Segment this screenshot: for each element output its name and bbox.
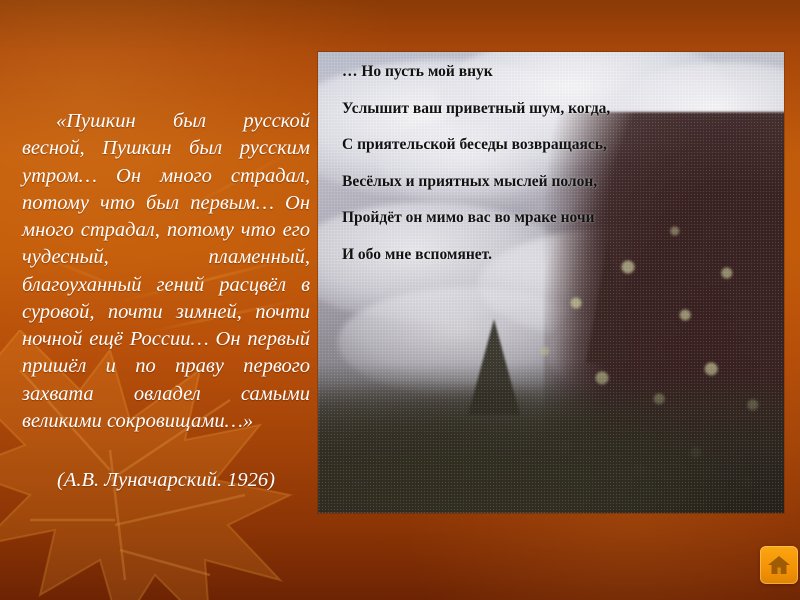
quote-column: «Пушкин был русской весной, Пушкин был р…: [22, 108, 310, 492]
conifer-silhouette: [468, 319, 520, 415]
home-icon: [767, 554, 791, 576]
poem-line: С приятельской беседы возвращаясь,: [342, 137, 774, 153]
poem-line: … Но пусть мой внук: [342, 64, 774, 80]
poem-block: … Но пусть мой внук Услышит ваш приветны…: [342, 64, 774, 283]
home-button[interactable]: [760, 546, 798, 584]
tree-line: [318, 363, 784, 513]
quote-text: «Пушкин был русской весной, Пушкин был р…: [22, 108, 310, 435]
quote-attribution: (А.В. Луначарский. 1926): [22, 469, 310, 492]
poem-line: Весёлых и приятных мыслей полон,: [342, 174, 774, 190]
photo-panel: … Но пусть мой внук Услышит ваш приветны…: [318, 52, 784, 513]
poem-line: И обо мне вспомянет.: [342, 247, 774, 263]
poem-line: Пройдёт он мимо вас во мраке ночи: [342, 210, 774, 226]
poem-line: Услышит ваш приветный шум, когда,: [342, 101, 774, 117]
slide-canvas: «Пушкин был русской весной, Пушкин был р…: [0, 0, 800, 600]
